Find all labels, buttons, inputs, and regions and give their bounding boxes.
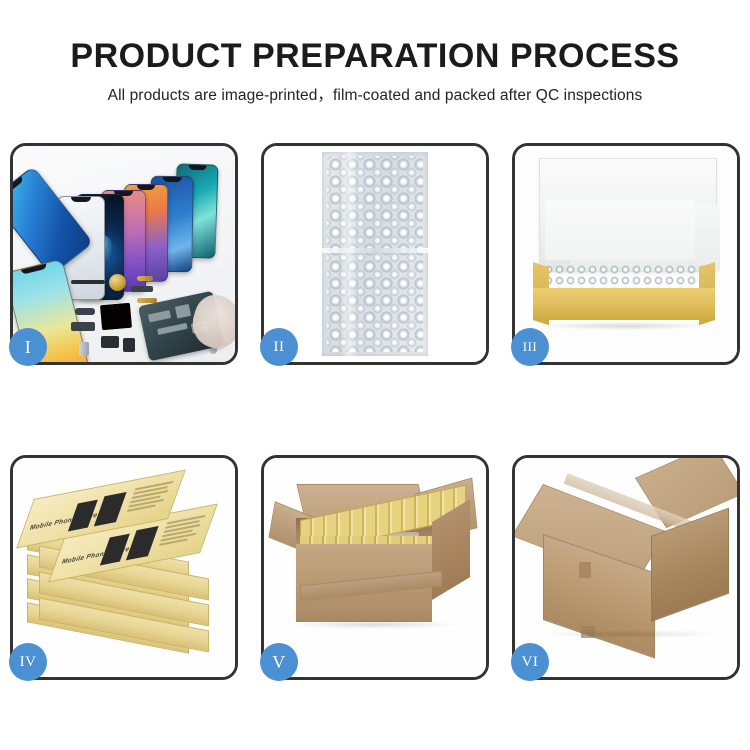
step-2-badge: II [260,328,298,366]
taptic-engine-part [123,338,135,352]
product-photo-thumb [126,526,159,560]
drop-shadow [545,630,715,638]
step-3-image [515,146,737,362]
step-6-badge: VI [511,643,549,681]
spec-text-lines [158,515,207,549]
process-step-5[interactable]: V [261,455,489,680]
bubble-wrapped-contents [543,264,705,290]
white-foam-sheet [545,200,695,260]
step-2-image [264,146,486,362]
power-button-flex-part [131,286,153,292]
page-title: PRODUCT PREPARATION PROCESS [0,0,750,76]
step-5-badge: V [260,643,298,681]
vibration-motor-part [109,274,126,291]
gold-connector-part [137,276,153,281]
process-step-3[interactable]: III [512,143,740,365]
speaker-module-part [101,336,119,348]
step-4-badge: IV [9,643,47,681]
process-step-2[interactable]: II [261,143,489,365]
product-photo-thumb [94,492,127,526]
step-3-badge: III [511,328,549,366]
page-subtitle: All products are image-printed，film-coat… [0,76,750,105]
bubble-wrap-pouch [322,152,428,356]
earpiece-mesh-part [71,280,105,284]
mailer-box-front-panel [533,288,715,320]
step-1-image [13,146,235,362]
step-4-image: Mobile Phone Spare Parts Mobile Phone Sp… [13,458,235,677]
carton-seam-tab [579,562,591,578]
page-header: PRODUCT PREPARATION PROCESS All products… [0,0,750,130]
retail-box-stack: Mobile Phone Spare Parts Mobile Phone Sp… [13,468,235,673]
drop-shadow [294,620,454,629]
spec-text-lines [126,481,175,515]
step-6-image [515,458,737,677]
drop-shadow [543,322,707,330]
process-step-1[interactable]: I [10,143,238,365]
ic-chip-array-part [100,303,132,331]
sim-tray-part [79,342,89,356]
process-step-4[interactable]: Mobile Phone Spare Parts Mobile Phone Sp… [10,455,238,680]
antenna-flex-part [75,308,95,315]
plastic-highlight [341,152,358,356]
process-step-6[interactable]: VI [512,455,740,680]
step-5-image [264,458,486,677]
step-1-badge: I [9,328,47,366]
process-step-grid: I II III [10,143,740,680]
pouch-seal-line [322,248,428,253]
camera-flex-part [71,322,95,331]
